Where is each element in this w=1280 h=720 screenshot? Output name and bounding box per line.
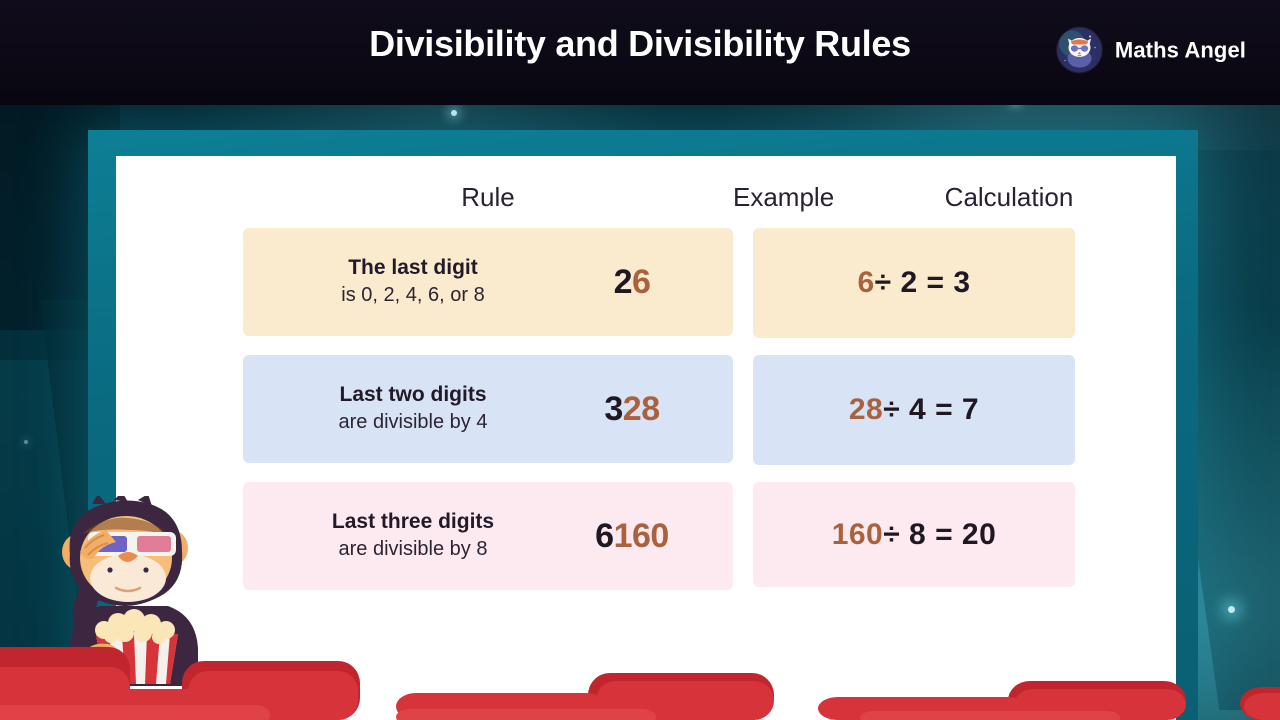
rule-primary-text: Last two digits [269,382,557,408]
example-value: 328 [557,390,707,429]
column-header-calculation: Calculation [848,182,1170,213]
cinema-seat-row-icon [0,635,1280,720]
example-prefix: 6 [595,517,613,555]
table-header-row: Rule Example Calculation [116,156,1176,213]
maths-angel-cat-logo-icon [1057,28,1102,73]
example-highlight: 160 [614,517,669,555]
light-dot [451,110,457,116]
calculation-rest: ÷ 8 = 20 [883,518,996,552]
calculation-rest: ÷ 2 = 3 [875,266,971,300]
table-body: The last digit is 0, 2, 4, 6, or 8 26 6 … [116,228,1176,590]
example-prefix: 2 [614,263,632,301]
header-bar: Divisibility and Divisibility Rules [0,0,1280,105]
rule-cell: Last three digits are divisible by 8 616… [243,482,733,590]
rule-primary-text: Last three digits [269,509,557,535]
rule-cell: The last digit is 0, 2, 4, 6, or 8 26 [243,228,733,336]
column-header-rule: Rule [243,182,733,213]
example-value: 26 [557,263,707,302]
rule-secondary-text: are divisible by 8 [269,536,557,563]
rule-secondary-text: is 0, 2, 4, 6, or 8 [269,282,557,309]
example-prefix: 3 [604,390,622,428]
example-value: 6160 [557,517,707,556]
example-highlight: 6 [632,263,650,301]
calculation-cell: 28 ÷ 4 = 7 [753,355,1075,465]
rule-cell: Last two digits are divisible by 4 328 [243,355,733,463]
calculation-highlight: 28 [849,393,883,427]
calculation-cell: 6 ÷ 2 = 3 [753,228,1075,338]
rule-primary-text: The last digit [269,255,557,281]
example-highlight: 28 [623,390,660,428]
light-dot [24,440,28,444]
calculation-rest: ÷ 4 = 7 [883,393,979,427]
table-row: Last two digits are divisible by 4 328 2… [116,355,1176,465]
calculation-highlight: 6 [857,266,874,300]
calculation-highlight: 160 [832,518,884,552]
brand: Maths Angel [1057,28,1246,73]
brand-name: Maths Angel [1115,37,1246,63]
calculation-cell: 160 ÷ 8 = 20 [753,482,1075,587]
table-row: The last digit is 0, 2, 4, 6, or 8 26 6 … [116,228,1176,338]
rule-secondary-text: are divisible by 4 [269,409,557,436]
light-dot [1228,606,1235,613]
table-row: Last three digits are divisible by 8 616… [116,482,1176,590]
